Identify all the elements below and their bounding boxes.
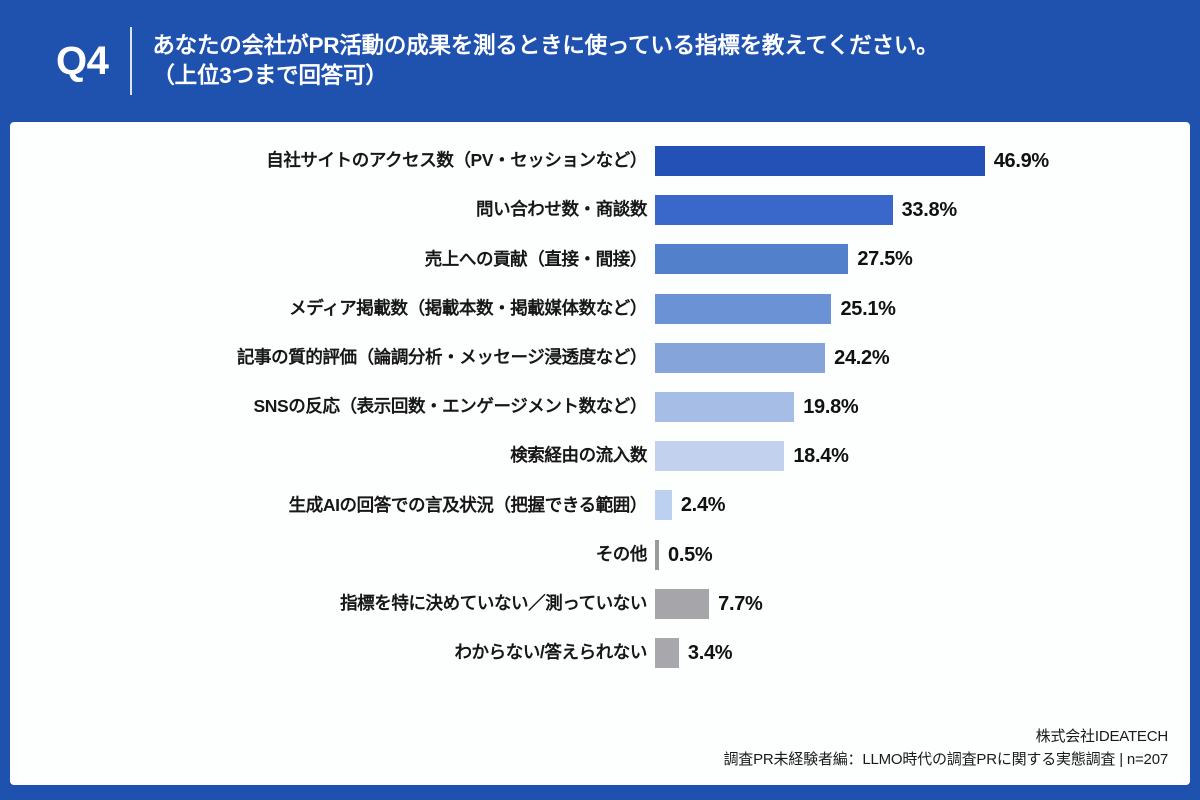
bar-fill [655, 195, 893, 225]
chart-footer: 株式会社IDEATECH 調査PR未経験者編：LLMO時代の調査PRに関する実態… [724, 725, 1169, 772]
bar-label: その他 [10, 546, 655, 564]
bar-value-label: 0.5% [659, 545, 712, 565]
bar-fill [655, 244, 848, 274]
bar-label: 検索経由の流入数 [10, 447, 655, 465]
bar-label: 指標を特に決めていない／測っていない [10, 595, 655, 613]
bar-track: 24.2% [655, 343, 1190, 373]
question-title-line2: （上位3つまで回答可） [152, 61, 938, 91]
bar-track: 7.7% [655, 589, 1190, 619]
bar-chart: 自社サイトのアクセス数（PV・セッションなど）46.9%問い合わせ数・商談数33… [10, 122, 1190, 702]
bar-value-label: 25.1% [831, 299, 895, 319]
bar-label: 自社サイトのアクセス数（PV・セッションなど） [10, 152, 655, 170]
question-header: Q4 あなたの会社がPR活動の成果を測るときに使っている指標を教えてください。 … [0, 0, 1200, 122]
bar-label: 問い合わせ数・商談数 [10, 201, 655, 219]
bar-value-label: 33.8% [893, 200, 957, 220]
bar-label: 売上への貢献（直接・間接） [10, 251, 655, 269]
bar-label: メディア掲載数（掲載本数・掲載媒体数など） [10, 300, 655, 318]
bar-value-label: 27.5% [848, 249, 912, 269]
bar-row: 自社サイトのアクセス数（PV・セッションなど）46.9% [10, 146, 1190, 176]
bar-fill [655, 146, 985, 176]
bar-label: 生成AIの回答での言及状況（把握できる範囲） [10, 497, 655, 515]
bar-track: 33.8% [655, 195, 1190, 225]
bar-label: SNSの反応（表示回数・エンゲージメント数など） [10, 398, 655, 416]
bar-track: 0.5% [655, 540, 1190, 570]
bar-fill [655, 294, 831, 324]
bar-track: 19.8% [655, 392, 1190, 422]
bar-label: わからない/答えられない [10, 644, 655, 662]
bar-fill [655, 441, 784, 471]
bar-track: 2.4% [655, 490, 1190, 520]
bar-value-label: 7.7% [709, 594, 762, 614]
bar-row: 生成AIの回答での言及状況（把握できる範囲）2.4% [10, 490, 1190, 520]
bar-fill [655, 589, 709, 619]
bar-row: 検索経由の流入数18.4% [10, 441, 1190, 471]
bar-fill [655, 392, 794, 422]
bar-row: わからない/答えられない3.4% [10, 638, 1190, 668]
footer-company: 株式会社IDEATECH [724, 725, 1169, 748]
bar-value-label: 46.9% [985, 151, 1049, 171]
bar-fill [655, 343, 825, 373]
bar-value-label: 19.8% [794, 397, 858, 417]
bar-track: 27.5% [655, 244, 1190, 274]
bar-track: 3.4% [655, 638, 1190, 668]
header-divider [130, 27, 132, 95]
bar-row: 指標を特に決めていない／測っていない7.7% [10, 589, 1190, 619]
bar-value-label: 24.2% [825, 348, 889, 368]
bar-row: 売上への貢献（直接・間接）27.5% [10, 244, 1190, 274]
question-title-line1: あなたの会社がPR活動の成果を測るときに使っている指標を教えてください。 [152, 33, 938, 58]
bar-row: その他0.5% [10, 540, 1190, 570]
bar-row: 記事の質的評価（論調分析・メッセージ浸透度など）24.2% [10, 343, 1190, 373]
bar-track: 46.9% [655, 146, 1190, 176]
bar-fill [655, 490, 672, 520]
bar-track: 18.4% [655, 441, 1190, 471]
chart-panel: 自社サイトのアクセス数（PV・セッションなど）46.9%問い合わせ数・商談数33… [10, 122, 1190, 785]
footer-survey: 調査PR未経験者編：LLMO時代の調査PRに関する実態調査 | n=207 [724, 748, 1169, 771]
bar-label: 記事の質的評価（論調分析・メッセージ浸透度など） [10, 349, 655, 367]
question-number: Q4 [56, 41, 130, 81]
question-title: あなたの会社がPR活動の成果を測るときに使っている指標を教えてください。 （上位… [152, 31, 938, 90]
bar-row: 問い合わせ数・商談数33.8% [10, 195, 1190, 225]
bar-fill [655, 638, 679, 668]
bar-row: メディア掲載数（掲載本数・掲載媒体数など）25.1% [10, 294, 1190, 324]
bar-track: 25.1% [655, 294, 1190, 324]
bar-row: SNSの反応（表示回数・エンゲージメント数など）19.8% [10, 392, 1190, 422]
bar-value-label: 3.4% [679, 643, 732, 663]
bar-value-label: 2.4% [672, 495, 725, 515]
bar-value-label: 18.4% [784, 446, 848, 466]
